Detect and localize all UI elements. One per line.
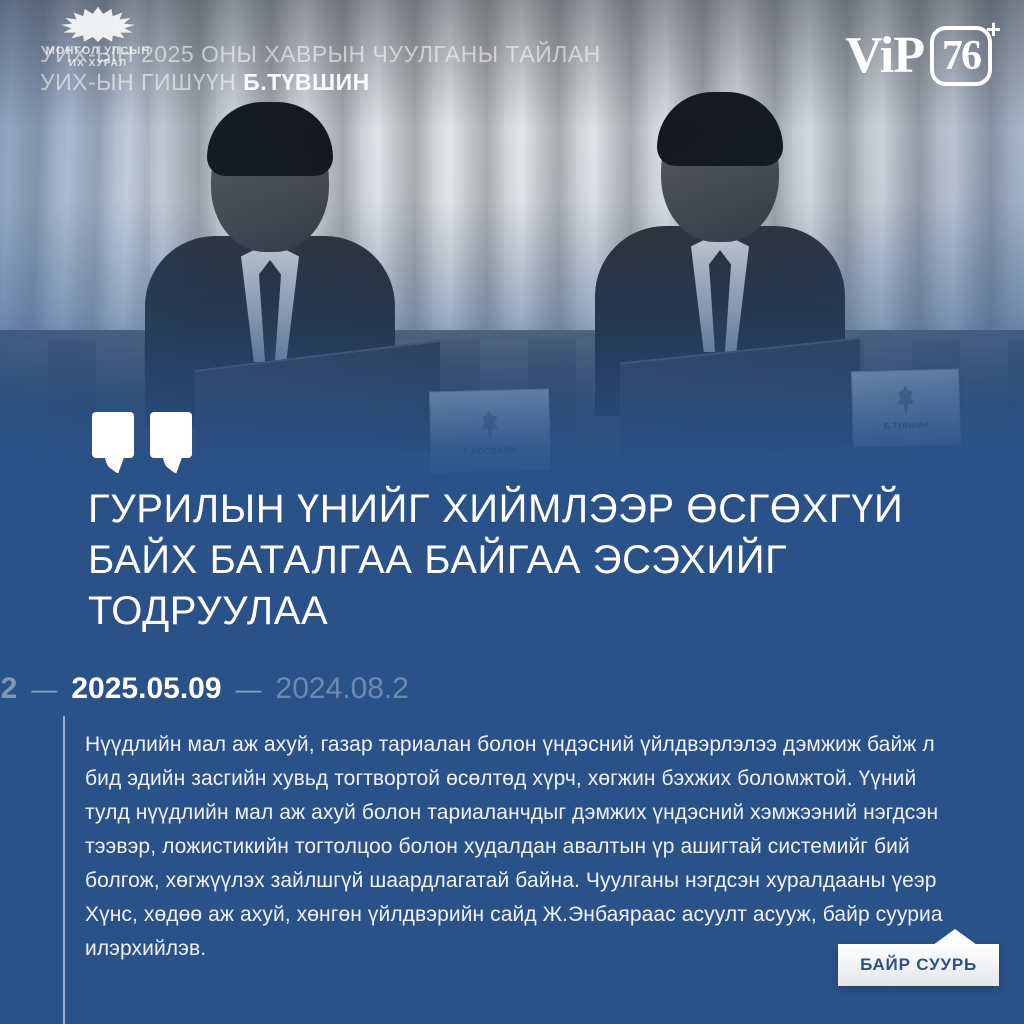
header-bar: МОНГОЛ УЛСЫН ИХ ХУРАЛ УИХ-ЫН 2025 ОНЫ ХА… [0, 0, 1024, 118]
quote-glyph-second [150, 412, 192, 472]
quote-glyph-first [92, 412, 134, 472]
status-badge-label: БАЙР СУУРЬ [860, 955, 977, 974]
date-carousel[interactable]: 12 — 2025.05.09 — 2024.08.2 [0, 665, 1024, 713]
header-titles: УИХ-ЫН 2025 ОНЫ ХАВРЫН ЧУУЛГАНЫ ТАЙЛАН У… [40, 40, 740, 96]
header-member-line: УИХ-ЫН ГИШҮҮН Б.ТҮВШИН [40, 68, 740, 96]
header-member-prefix: УИХ-ЫН ГИШҮҮН [40, 69, 243, 95]
date-carousel-fade [794, 665, 1024, 713]
header-session-title: УИХ-ЫН 2025 ОНЫ ХАВРЫН ЧУУЛГАНЫ ТАЙЛАН [40, 40, 740, 68]
header-member-name: Б.ТҮВШИН [243, 69, 370, 95]
headline-line-2: БАЙХ БАТАЛГАА БАЙГАА ЭСЭХИЙГ [88, 535, 968, 586]
headline-line-3: ТОДРУУЛАА [88, 586, 968, 637]
date-active[interactable]: 2025.05.09 [71, 674, 221, 704]
vip-logo-number: 76 [942, 35, 980, 77]
date-separator: — [31, 674, 57, 705]
body-accent-rule [63, 716, 65, 1024]
badge-notch-icon [933, 929, 977, 945]
date-previous[interactable]: 12 [0, 674, 17, 704]
body-paragraph: Нүүдлийн мал аж ахуй, газар тариалан бол… [85, 728, 963, 966]
headline-line-1: ГУРИЛЫН ҮНИЙГ ХИЙМЛЭЭР ӨСГӨХГҮЙ [88, 484, 968, 535]
headline: ГУРИЛЫН ҮНИЙГ ХИЙМЛЭЭР ӨСГӨХГҮЙ БАЙХ БАТ… [88, 484, 968, 638]
date-next[interactable]: 2024.08.2 [276, 674, 409, 704]
vip76-logo[interactable]: ViP 76 + [845, 26, 992, 86]
vip-logo-badge: 76 + [930, 26, 992, 86]
mongolian-parliament-emblem-icon [61, 6, 135, 42]
status-badge[interactable]: БАЙР СУУРЬ [838, 944, 999, 986]
vip-logo-word: ViP [845, 30, 924, 82]
quotation-mark-icon [92, 412, 192, 472]
news-quote-card: Г.ХОСБАЯР УЛСЫН ИХ ХУРЛЫН ГИШҮҮН Б.ТҮВШИ… [0, 0, 1024, 1024]
date-separator: — [236, 674, 262, 705]
vip-logo-plus: + [986, 16, 1001, 42]
